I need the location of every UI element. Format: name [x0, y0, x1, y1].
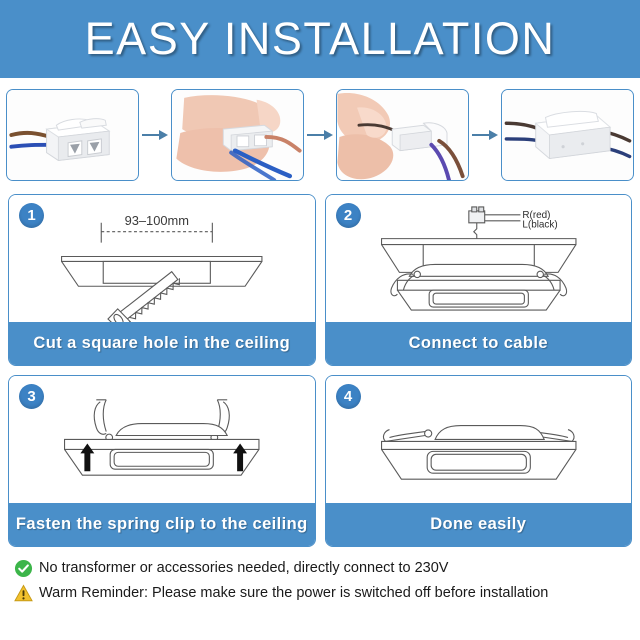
arrow-right-icon-2	[307, 129, 333, 141]
arrow-right-icon-3	[472, 129, 498, 141]
step-figure-4	[326, 376, 632, 503]
step-caption-4: Done easily	[326, 503, 632, 546]
step-figure-1: 93–100mm	[9, 195, 315, 322]
note-text-1: No transformer or accessories needed, di…	[39, 559, 448, 578]
arrow-right-icon-1	[142, 129, 168, 141]
dimension-label: 93–100mm	[125, 213, 189, 228]
page-title: EASY INSTALLATION	[85, 13, 556, 65]
photo-strip	[0, 78, 640, 188]
step-caption-1: Cut a square hole in the ceiling	[9, 322, 315, 365]
check-circle-icon	[14, 559, 33, 578]
step-card-3: 3	[8, 375, 316, 547]
header-banner: EASY INSTALLATION	[0, 0, 640, 78]
step-card-4: 4 Done easi	[325, 375, 633, 547]
step-figure-3	[9, 376, 315, 503]
step-number-badge-2: 2	[336, 203, 361, 228]
note-text-2: Warm Reminder: Please make sure the powe…	[39, 584, 548, 603]
step-number-badge-4: 4	[336, 384, 361, 409]
note-row-2: Warm Reminder: Please make sure the powe…	[14, 584, 626, 603]
step-caption-2: Connect to cable	[326, 322, 632, 365]
step-card-2: 2	[325, 194, 633, 366]
steps-grid: 1	[0, 188, 640, 547]
step-caption-3: Fasten the spring clip to the ceiling	[9, 503, 315, 546]
footer-notes: No transformer or accessories needed, di…	[0, 547, 640, 603]
photo-panel-4	[501, 89, 634, 181]
step-number-badge-1: 1	[19, 203, 44, 228]
wire-label-l: L(black)	[522, 220, 557, 231]
photo-panel-2	[171, 89, 304, 181]
warning-triangle-icon	[14, 584, 33, 603]
photo-panel-1	[6, 89, 139, 181]
note-row-1: No transformer or accessories needed, di…	[14, 559, 626, 578]
step-figure-2: R(red) L(black)	[326, 195, 632, 322]
photo-panel-3	[336, 89, 469, 181]
step-number-badge-3: 3	[19, 384, 44, 409]
step-card-1: 1	[8, 194, 316, 366]
